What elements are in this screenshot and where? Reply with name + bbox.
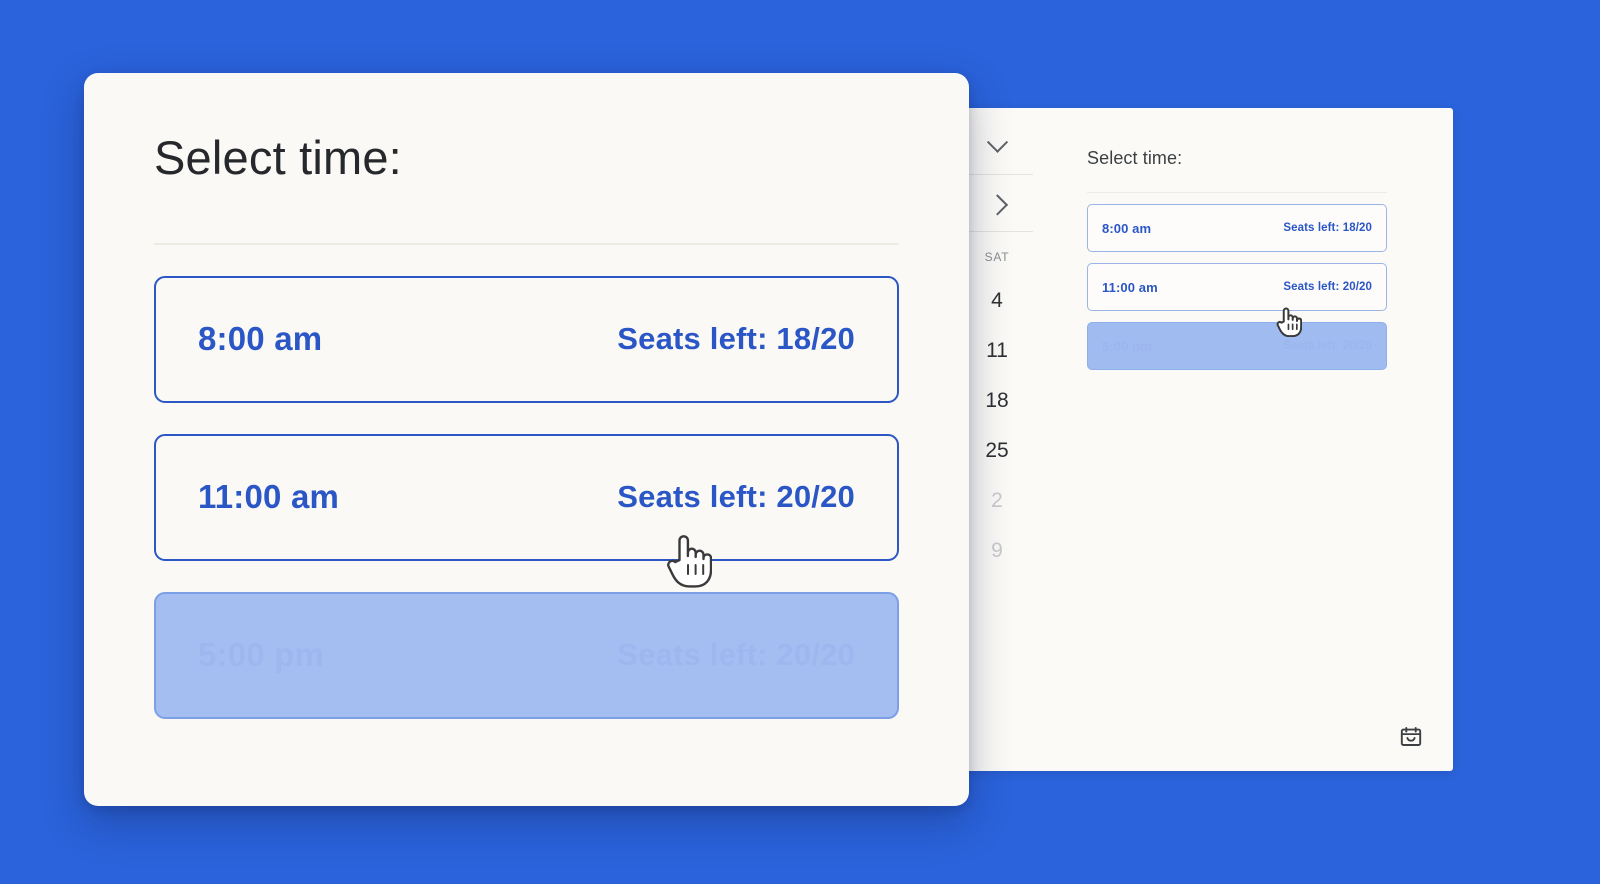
page-background: SAT 4 11 18 25 2 9 Select time: 8:00 am … <box>0 0 1600 884</box>
background-select-time-section: Select time: 8:00 am Seats left: 18/20 1… <box>1087 148 1387 370</box>
title-divider <box>154 243 899 245</box>
slot-time-label: 8:00 am <box>198 320 322 358</box>
background-time-slot-1100am[interactable]: 11:00 am Seats left: 20/20 <box>1087 263 1387 311</box>
slot-seats-label: Seats left: 18/20 <box>617 321 855 357</box>
background-time-slot-800am[interactable]: 8:00 am Seats left: 18/20 <box>1087 204 1387 252</box>
slot-time-label: 5:00 pm <box>198 636 324 674</box>
page-title: Select time: <box>154 128 899 188</box>
time-slot-1100am[interactable]: 11:00 am Seats left: 20/20 <box>154 434 899 561</box>
time-slot-800am[interactable]: 8:00 am Seats left: 18/20 <box>154 276 899 403</box>
slot-seats-label: Seats left: 20/20 <box>617 637 855 673</box>
time-slot-list: 8:00 am Seats left: 18/20 11:00 am Seats… <box>154 276 899 719</box>
background-title-divider <box>1087 192 1387 193</box>
select-time-card: Select time: 8:00 am Seats left: 18/20 1… <box>84 73 969 806</box>
background-slot-seats: Seats left: 18/20 <box>1283 222 1372 234</box>
background-slot-time: 8:00 am <box>1102 221 1151 236</box>
background-section-title: Select time: <box>1087 148 1387 169</box>
slot-time-label: 11:00 am <box>198 478 339 516</box>
time-slot-500pm[interactable]: 5:00 pm Seats left: 20/20 <box>154 592 899 719</box>
date-strip-divider-bottom <box>961 231 1033 232</box>
background-slot-time: 5:00 pm <box>1102 339 1152 354</box>
background-slot-seats: Seats left: 20/20 <box>1283 340 1372 352</box>
background-slot-time: 11:00 am <box>1102 280 1158 295</box>
background-time-slot-500pm[interactable]: 5:00 pm Seats left: 20/20 <box>1087 322 1387 370</box>
appointment-schedule-icon[interactable] <box>1399 725 1423 749</box>
slot-seats-label: Seats left: 20/20 <box>617 479 855 515</box>
background-slot-seats: Seats left: 20/20 <box>1283 281 1372 293</box>
